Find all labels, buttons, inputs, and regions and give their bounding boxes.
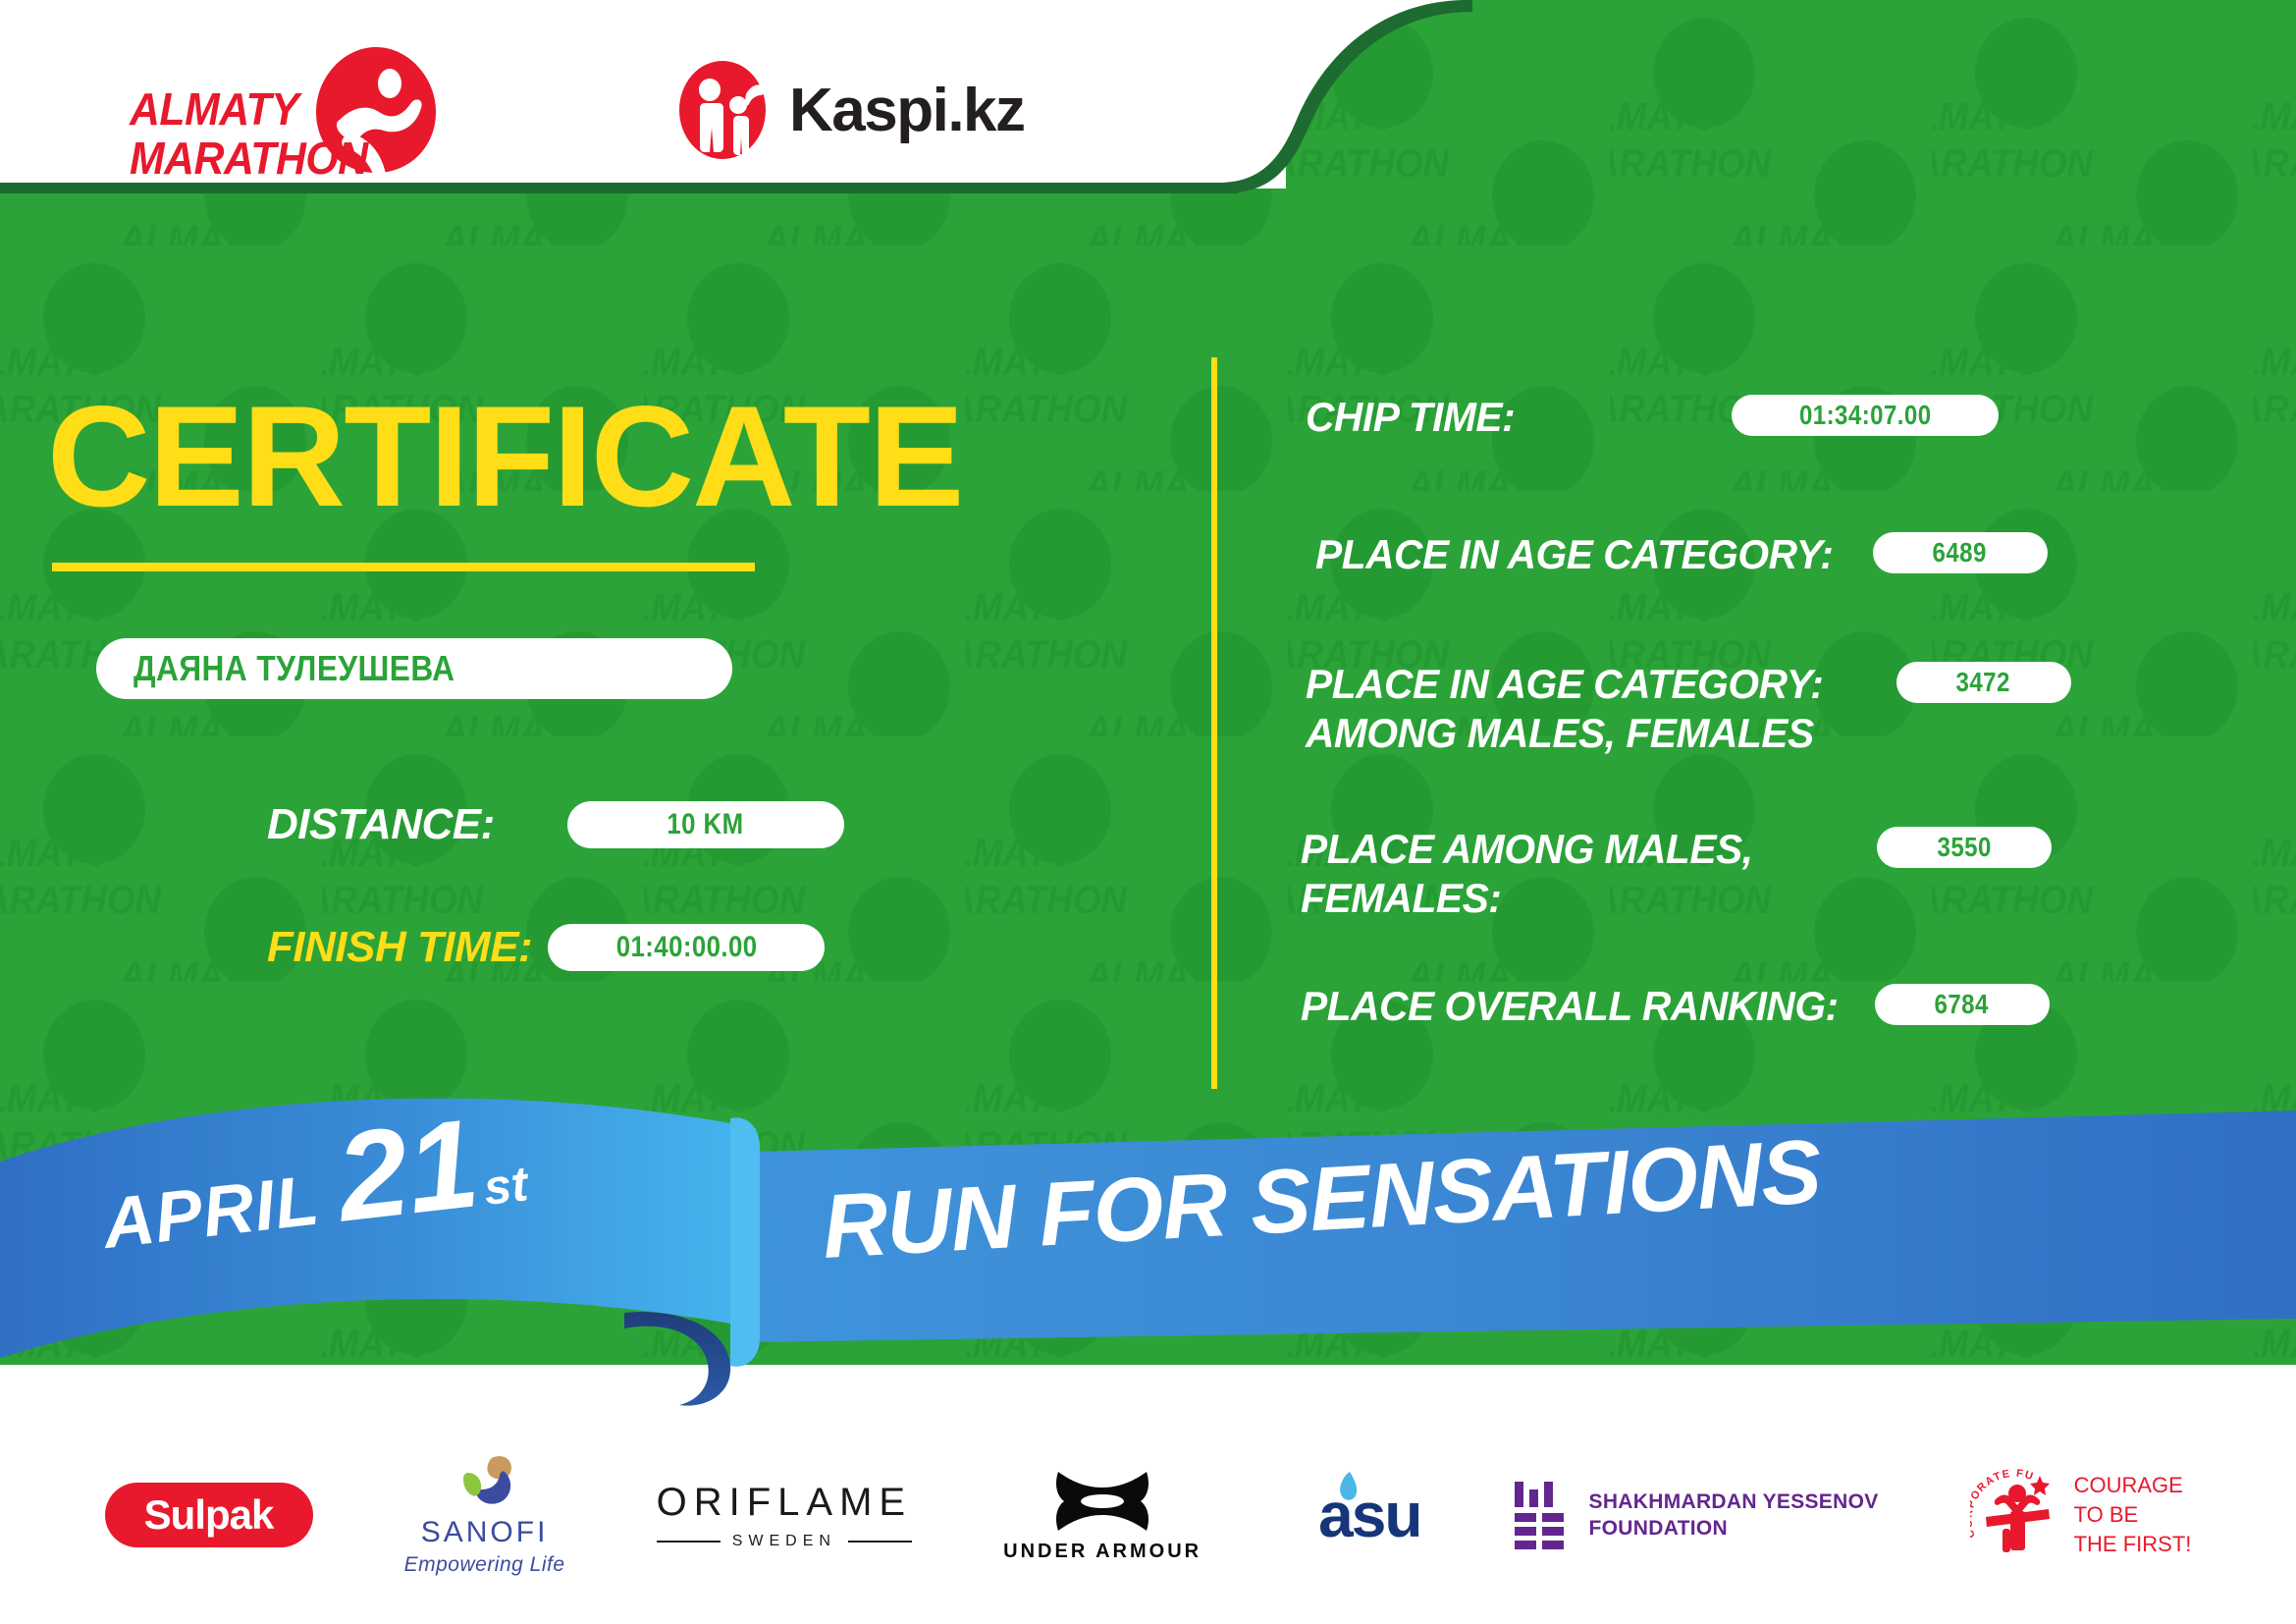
yessenov-bars-icon — [1513, 1480, 1568, 1550]
yessenov-wordmark: SHAKHMARDAN YESSENOV FOUNDATION — [1589, 1489, 1879, 1543]
title-underline — [52, 563, 755, 571]
kaspi-wordmark: Kaspi.kz — [789, 76, 1025, 145]
under-armour-wordmark: UNDER ARMOUR — [1003, 1541, 1201, 1563]
chip-time-row: CHIP TIME: 01:34:07.00 — [1306, 393, 1999, 442]
header-accent-strip — [0, 183, 1239, 193]
sponsor-oriflame: ORIFLAME SWEDEN — [657, 1481, 912, 1550]
place-overall-label: PLACE OVERALL RANKING: — [1301, 982, 1839, 1031]
oriflame-sweden-row: SWEDEN — [657, 1533, 912, 1550]
place-among-gender-row: PLACE AMONG MALES, FEMALES: 3550 — [1301, 825, 2052, 922]
place-age-category-gender-label: PLACE IN AGE CATEGORY: AMONG MALES, FEMA… — [1306, 660, 1823, 757]
distance-value: 10 KM — [667, 808, 744, 841]
sponsor-sulpak: Sulpak — [105, 1483, 313, 1547]
place-age-category-value: 6489 — [1933, 537, 1987, 568]
label-line-2: FEMALES: — [1301, 874, 1753, 923]
finish-time-value-pill: 01:40:00.00 — [548, 924, 825, 971]
logo-line-1: ALMATY — [130, 86, 376, 132]
asu-droplet-icon — [1334, 1468, 1360, 1531]
sanofi-wordmark: SANOFI — [421, 1516, 549, 1549]
sulpak-wordmark: Sulpak — [144, 1491, 274, 1539]
label-line-1: PLACE IN AGE CATEGORY: — [1306, 660, 1823, 709]
sanofi-mark-icon — [449, 1453, 521, 1512]
finish-time-value: 01:40:00.00 — [615, 931, 757, 964]
place-among-gender-label: PLACE AMONG MALES, FEMALES: — [1301, 825, 1753, 922]
distance-label: DISTANCE: — [267, 800, 495, 849]
almaty-marathon-wordmark: ALMATY MARATHON — [130, 86, 395, 181]
column-divider — [1211, 357, 1217, 1089]
event-day-suffix: st — [481, 1155, 531, 1217]
under-armour-icon — [1048, 1468, 1156, 1533]
sponsor-yessenov-foundation: SHAKHMARDAN YESSENOV FOUNDATION — [1513, 1480, 1879, 1550]
participant-name: ДАЯНА ТУЛЕУШЕВА — [133, 648, 454, 689]
participant-name-field: ДАЯНА ТУЛЕУШЕВА — [96, 638, 732, 699]
event-day: 21 — [332, 1107, 483, 1235]
rule-right — [848, 1541, 912, 1543]
sulpak-logo: Sulpak — [105, 1483, 313, 1547]
sponsor-asu: asu — [1293, 1479, 1420, 1551]
courage-line-2: TO BE — [2074, 1502, 2139, 1527]
finish-time-label: FINISH TIME: — [267, 923, 532, 972]
rule-left — [657, 1541, 721, 1543]
sanofi-tagline: Empowering Life — [404, 1553, 565, 1577]
oriflame-wordmark: ORIFLAME — [657, 1481, 912, 1525]
courage-runner-icon: CORPORATE FUND — [1970, 1468, 2060, 1562]
place-age-category-value-pill: 6489 — [1873, 532, 2048, 573]
place-age-category-gender-value-pill: 3472 — [1896, 662, 2071, 703]
chip-time-value-pill: 01:34:07.00 — [1732, 395, 1999, 436]
place-overall-row: PLACE OVERALL RANKING: 6784 — [1301, 982, 2050, 1031]
place-age-category-label: PLACE IN AGE CATEGORY: — [1315, 530, 1833, 579]
label-line-1: PLACE AMONG MALES, — [1301, 825, 1753, 874]
oriflame-tagline: SWEDEN — [732, 1533, 836, 1550]
yessenov-line-2: FOUNDATION — [1589, 1517, 1728, 1540]
almaty-marathon-logo: ALMATY MARATHON — [130, 41, 454, 174]
finish-time-row: FINISH TIME: 01:40:00.00 — [267, 923, 825, 972]
courage-wordmark: COURAGE TO BE THE FIRST! — [2074, 1471, 2192, 1558]
label-line-2: AMONG MALES, FEMALES — [1306, 709, 1823, 758]
courage-line-1: COURAGE — [2074, 1473, 2183, 1497]
place-among-gender-value-pill: 3550 — [1877, 827, 2052, 868]
sponsor-bar: Sulpak SANOFI Empowering Life ORIFLAME S… — [0, 1406, 2296, 1624]
certificate-page: ALMATY MARATHON ALMATY MARATHON — [0, 0, 2296, 1624]
sponsor-courage-to-be-first: CORPORATE FUND COURAGE TO BE THE FIRST! — [1970, 1468, 2192, 1562]
page-title: CERTIFICATE — [47, 385, 962, 528]
sponsor-sanofi: SANOFI Empowering Life — [404, 1453, 565, 1577]
logo-line-2: MARATHON — [130, 135, 376, 181]
sponsor-under-armour: UNDER ARMOUR — [1003, 1468, 1201, 1563]
place-age-category-row: PLACE IN AGE CATEGORY: 6489 — [1315, 530, 2048, 579]
distance-row: DISTANCE: 10 KM — [267, 800, 844, 849]
chip-time-value: 01:34:07.00 — [1798, 400, 1931, 431]
kaspi-logo: Kaspi.kz — [677, 59, 1025, 161]
courage-line-3: THE FIRST! — [2074, 1532, 2192, 1556]
place-overall-value-pill: 6784 — [1875, 984, 2050, 1025]
yessenov-line-1: SHAKHMARDAN YESSENOV — [1589, 1490, 1879, 1513]
kaspi-people-icon — [677, 59, 768, 161]
place-among-gender-value: 3550 — [1937, 832, 1991, 863]
distance-value-pill: 10 KM — [567, 801, 844, 848]
place-age-category-gender-row: PLACE IN AGE CATEGORY: AMONG MALES, FEMA… — [1306, 660, 2071, 757]
place-age-category-gender-value: 3472 — [1956, 667, 2010, 698]
place-overall-value: 6784 — [1935, 989, 1989, 1020]
chip-time-label: CHIP TIME: — [1306, 393, 1515, 442]
